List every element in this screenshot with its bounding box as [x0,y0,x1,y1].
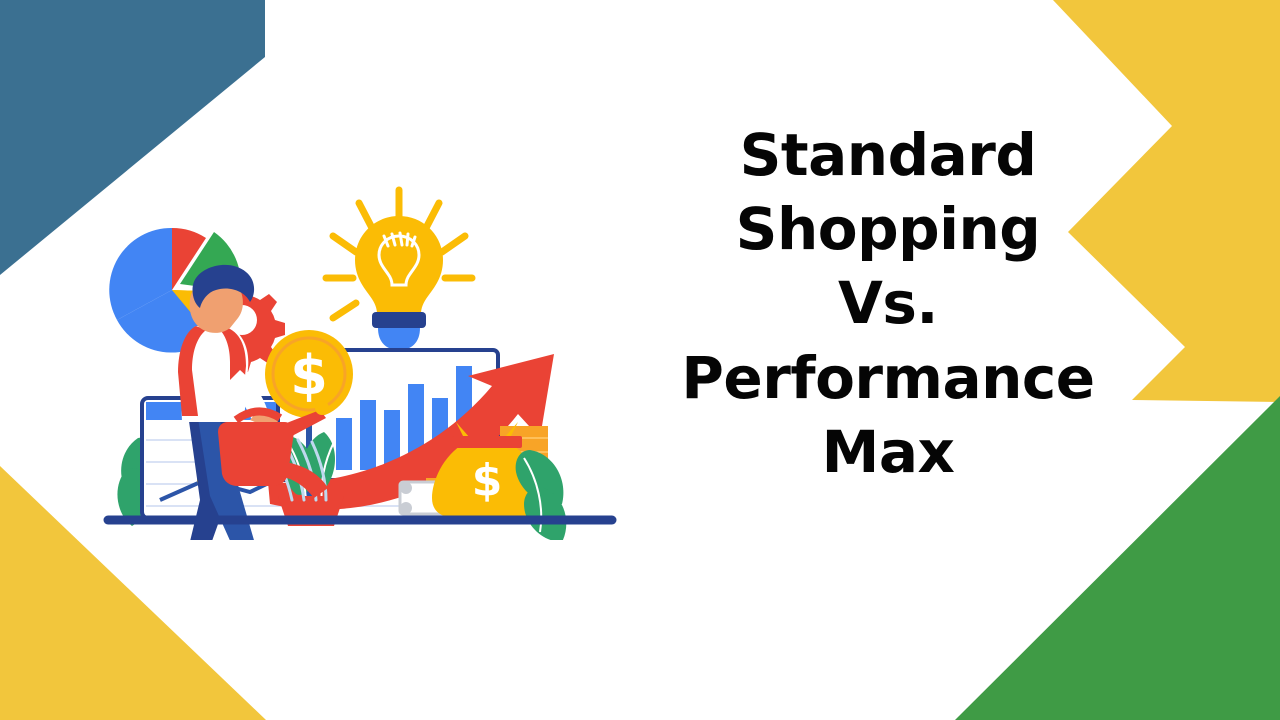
money-bag-dollar-sign: $ [472,455,503,506]
headline-line-4: Performance [672,341,1104,415]
slide-canvas: $ $ [0,0,1280,720]
business-growth-illustration: $ $ [100,170,620,540]
headline-line-2: Shopping [672,192,1104,266]
lightbulb-icon [355,216,443,350]
illustration-svg: $ $ [100,170,620,540]
headline-line-1: Standard [672,118,1104,192]
page-title: Standard Shopping Vs. Performance Max [672,118,1104,489]
headline-line-5: Max [672,415,1104,489]
coin-dollar-sign: $ [290,344,328,407]
headline-line-3: Vs. [672,266,1104,340]
